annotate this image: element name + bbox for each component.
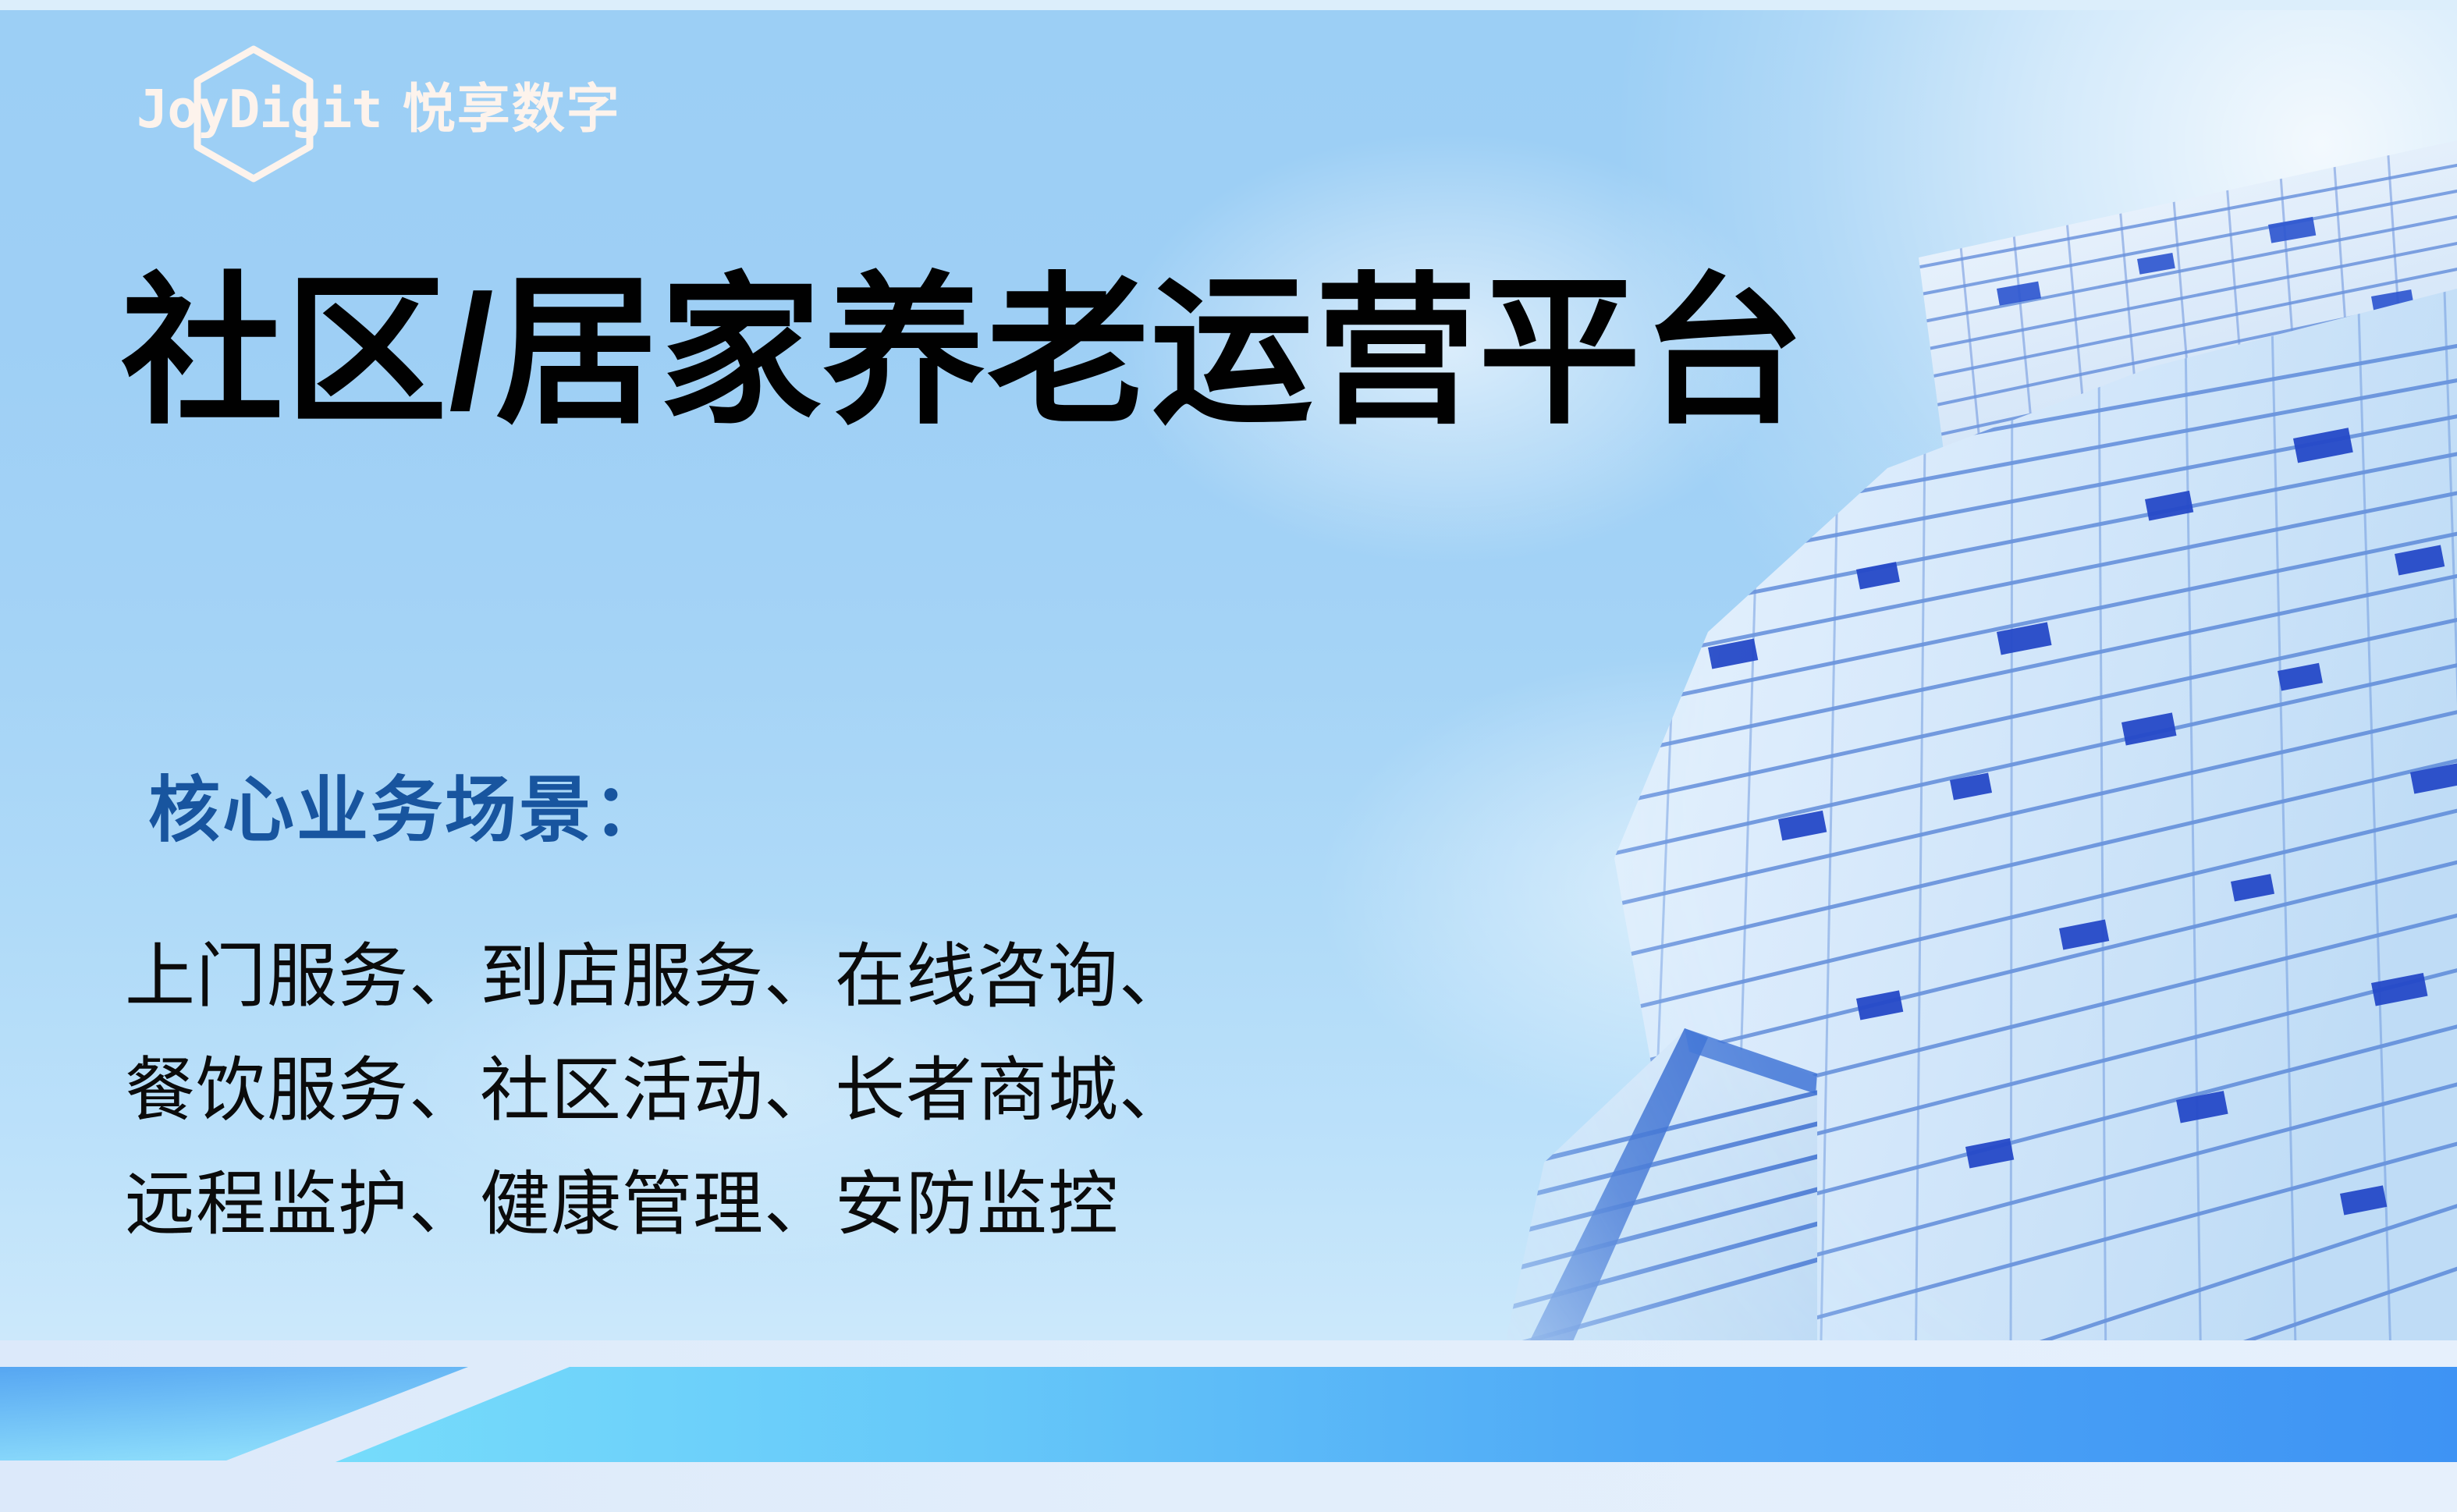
top-edge-strip xyxy=(0,0,2457,10)
scenario-line: 上门服务、到店服务、在线咨询、 xyxy=(125,921,1190,1035)
core-scenarios-list: 上门服务、到店服务、在线咨询、 餐饮服务、社区活动、长者商城、 远程监护、健康管… xyxy=(125,921,1190,1262)
scenario-line: 餐饮服务、社区活动、长者商城、 xyxy=(125,1035,1190,1148)
logo-wordmark: JoyDigit xyxy=(137,83,382,136)
logo-chinese-name: 悦享数字 xyxy=(403,83,621,136)
brand-logo: JoyDigit 悦享数字 xyxy=(137,66,621,152)
slide-canvas: JoyDigit 悦享数字 社区/居家养老运营平台 核心业务场景： 上门服务、到… xyxy=(0,0,2457,1512)
scenario-line: 远程监护、健康管理、安防监控 xyxy=(125,1148,1190,1262)
page-title: 社区/居家养老运营平台 xyxy=(121,262,1806,444)
bottom-decorative-band xyxy=(0,1340,2457,1512)
core-scenarios-heading: 核心业务场景： xyxy=(148,775,667,847)
